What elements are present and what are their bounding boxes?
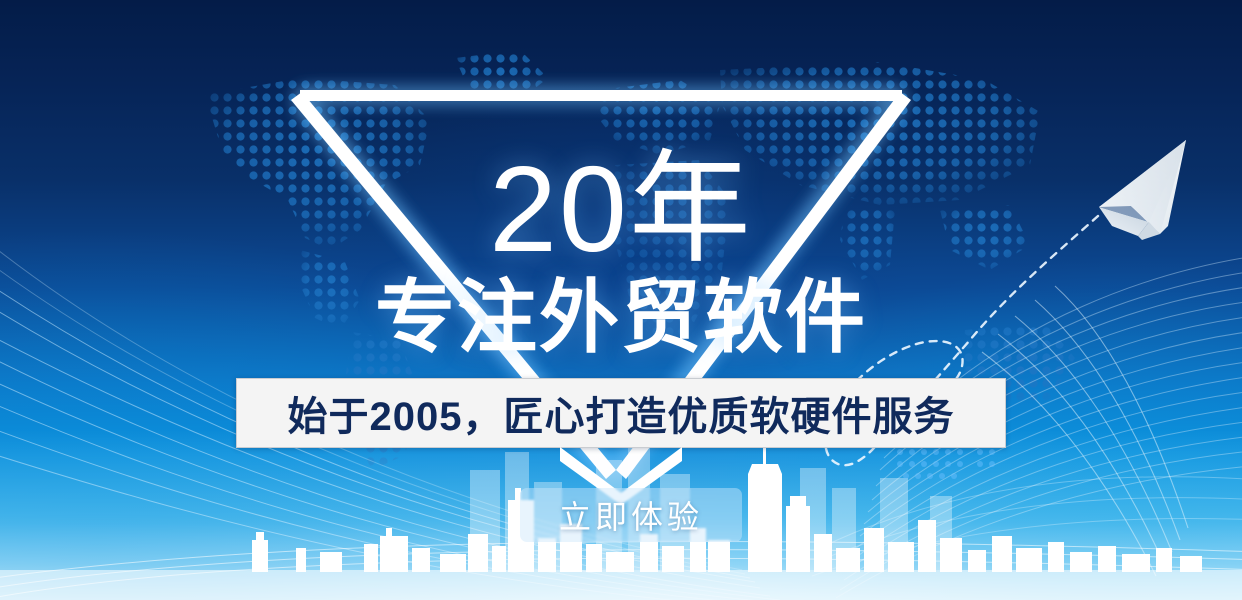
headline-years: 20年 (0, 148, 1242, 270)
cta-experience-button[interactable]: 立即体验 (520, 488, 742, 542)
promo-banner: 20年 专注外贸软件 始于2005，匠心打造优质软硬件服务 立即体验 (0, 0, 1242, 600)
headline-main: 专注外贸软件 (0, 278, 1242, 358)
subtitle-text: 始于2005，匠心打造优质软硬件服务 (288, 384, 955, 442)
cta-label: 立即体验 (559, 492, 703, 538)
subtitle-bar: 始于2005，匠心打造优质软硬件服务 (236, 378, 1006, 448)
